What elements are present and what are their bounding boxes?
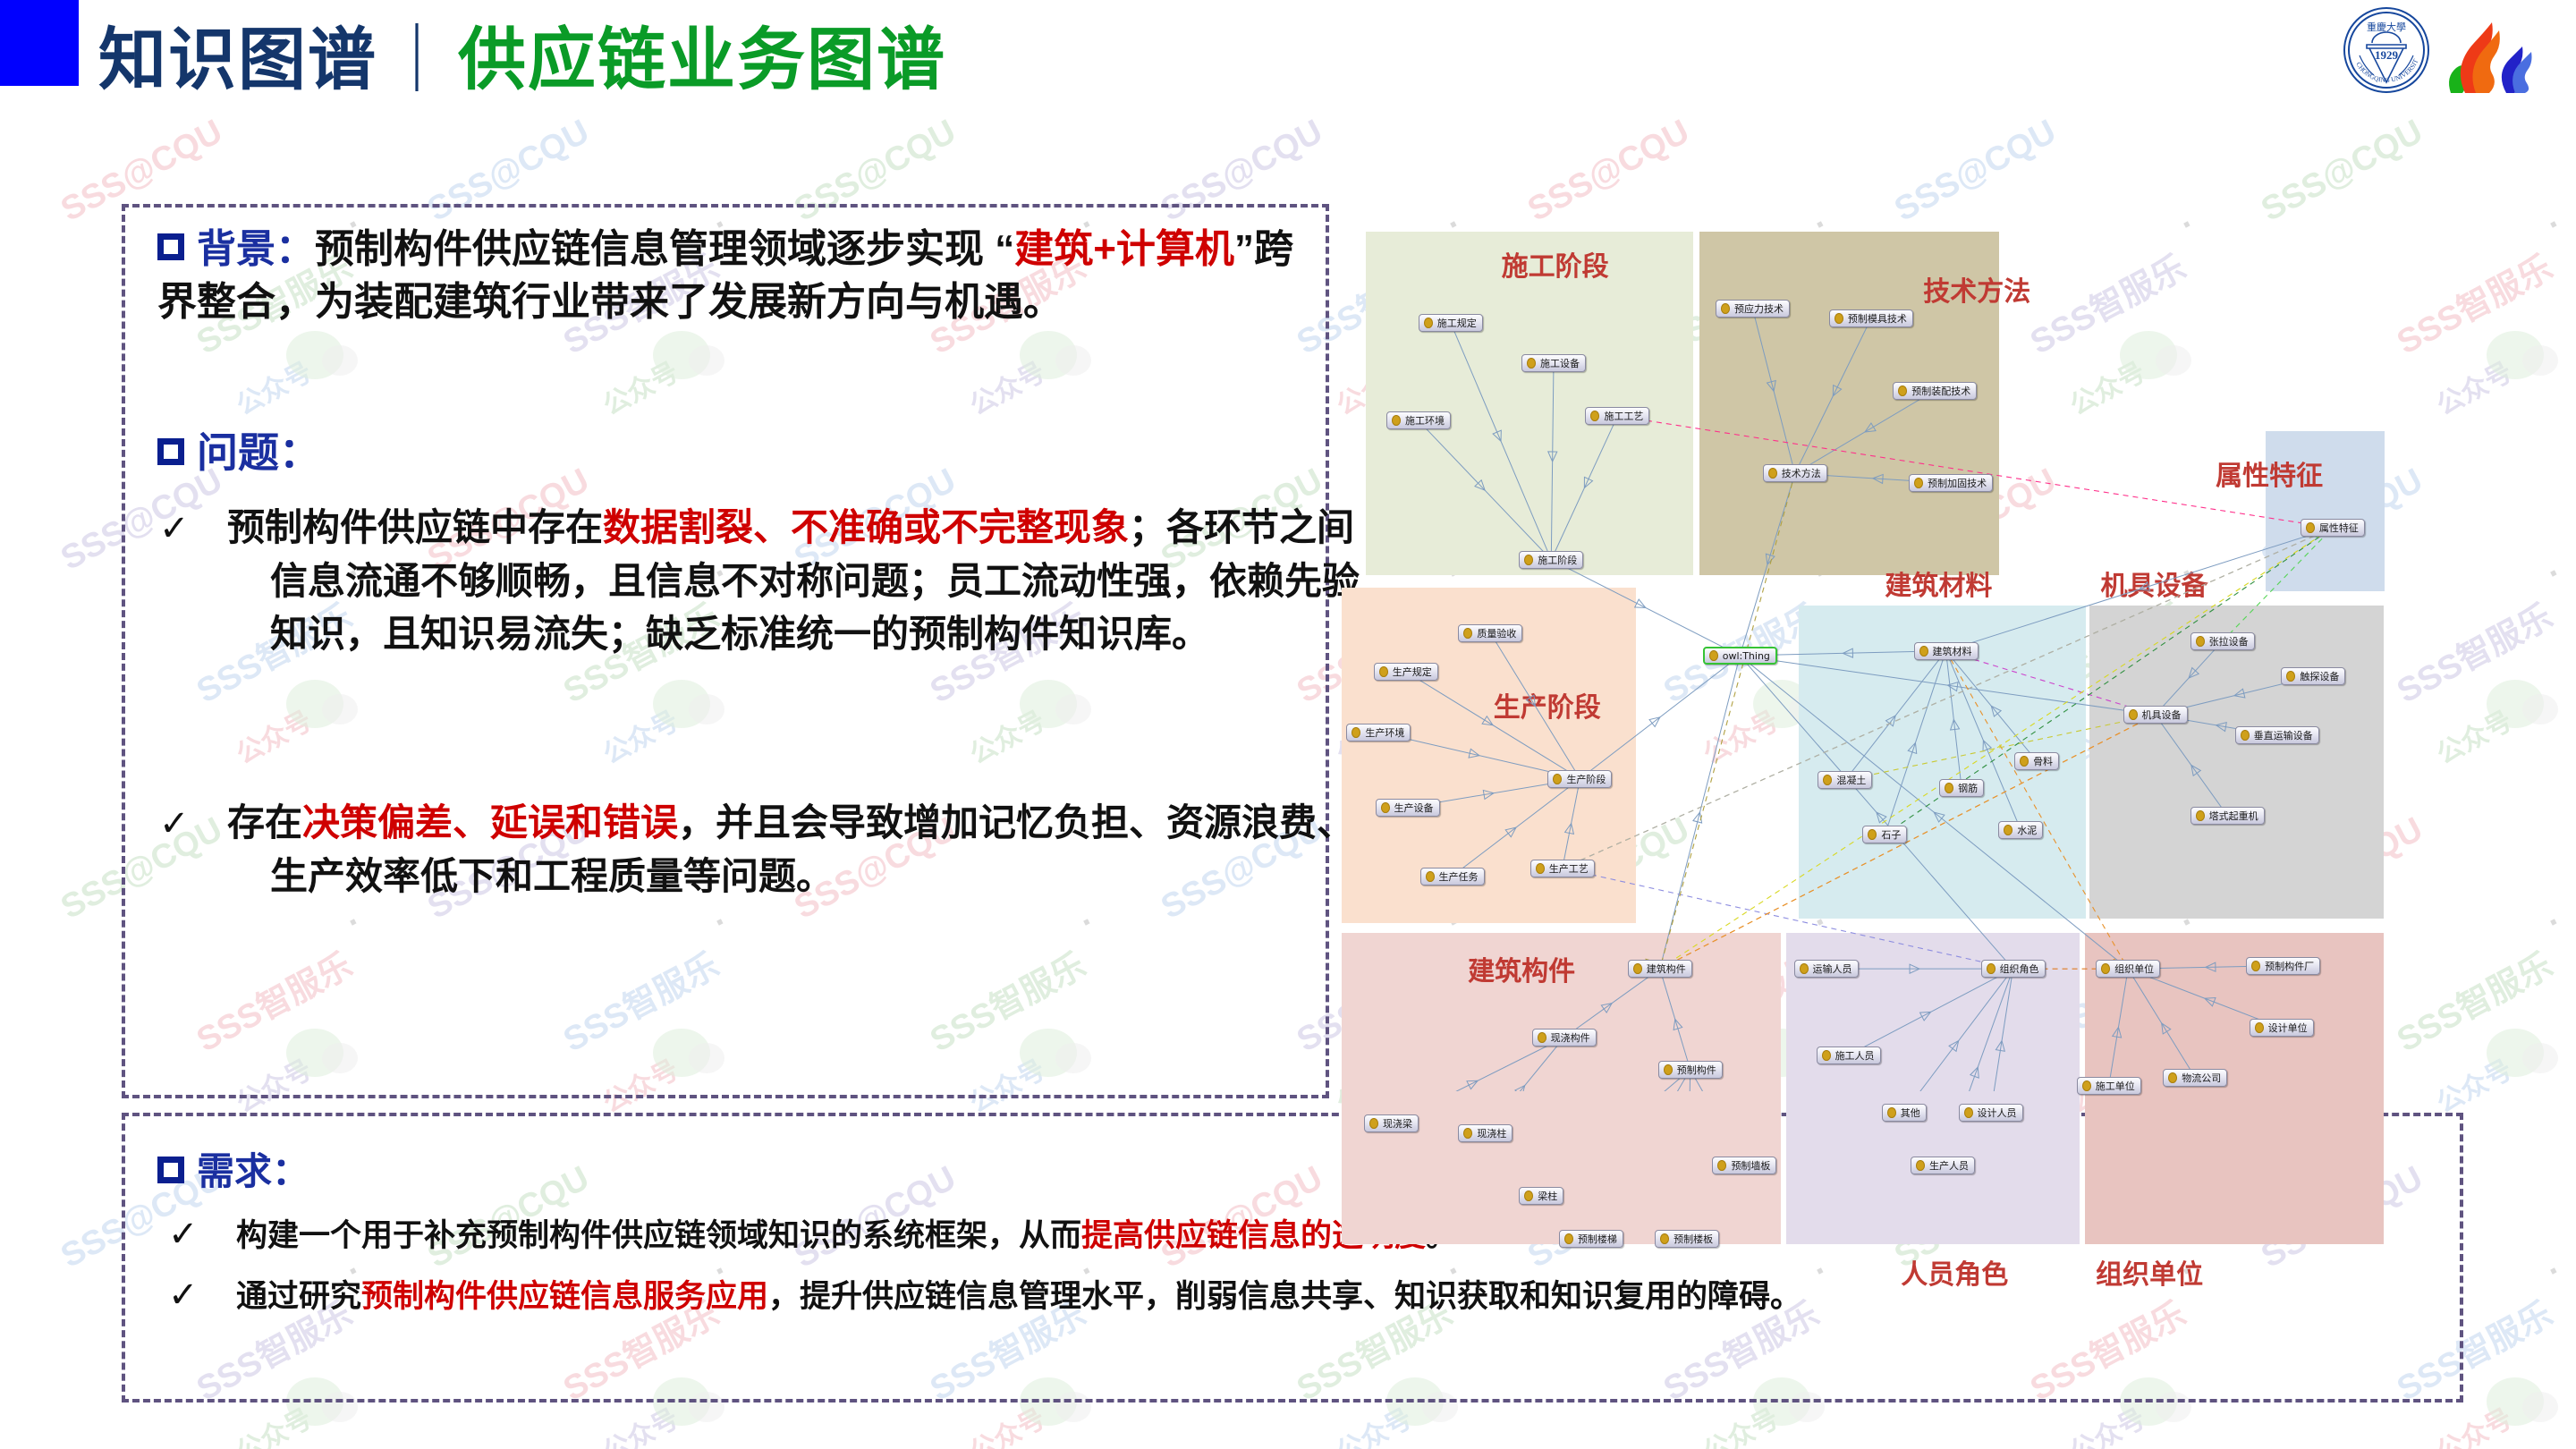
quote-close: ” bbox=[1234, 227, 1254, 271]
node-dot-icon bbox=[1369, 1118, 1378, 1129]
node-dot-icon bbox=[1553, 774, 1562, 784]
node-dot-icon bbox=[1987, 963, 1996, 974]
graph-node-label: owl:Thing bbox=[1723, 650, 1770, 662]
graph-node[interactable]: 现浇梁 bbox=[1364, 1114, 1419, 1132]
node-dot-icon bbox=[1916, 1160, 1925, 1171]
square-bullet-icon bbox=[157, 233, 184, 260]
graph-node-label: 施工工艺 bbox=[1604, 409, 1643, 423]
graph-node[interactable]: 预制装配技术 bbox=[1893, 382, 1977, 400]
watermark-text: 公众号 bbox=[595, 1396, 684, 1449]
graph-node[interactable]: 建筑材料 bbox=[1914, 642, 1979, 660]
graph-node-label: 混凝土 bbox=[1836, 773, 1866, 787]
node-dot-icon bbox=[1379, 666, 1388, 677]
node-dot-icon bbox=[1721, 303, 1730, 314]
graph-node-label: 施工环境 bbox=[1405, 413, 1445, 428]
square-bullet-icon bbox=[157, 438, 184, 465]
problem-heading: 问题： bbox=[157, 420, 320, 479]
graph-node-label: 预制墙板 bbox=[1731, 1158, 1770, 1173]
graph-node[interactable]: 预制楼板 bbox=[1655, 1230, 1719, 1248]
problem-1-text-a: 预制构件供应链中存在 bbox=[227, 506, 603, 548]
graph-node-label: 其他 bbox=[1901, 1106, 1920, 1120]
graph-node[interactable]: 预制墙板 bbox=[1712, 1157, 1776, 1174]
graph-node-label: 建筑构件 bbox=[1647, 962, 1686, 976]
problem-item-2: ✓存在决策偏差、延误和错误，并且会导致增加记忆负担、资源浪费、生产效率低下和工程… bbox=[215, 796, 1370, 902]
graph-node[interactable]: 物流公司 bbox=[2163, 1069, 2227, 1087]
node-dot-icon bbox=[1524, 1191, 1533, 1201]
graph-node-label: 施工规定 bbox=[1437, 316, 1477, 330]
node-dot-icon bbox=[2020, 756, 2029, 767]
problem-1-highlight: 数据割裂、不准确或不完整现象 bbox=[603, 506, 1129, 548]
graph-node[interactable]: 现浇柱 bbox=[1458, 1124, 1513, 1142]
need-2-text-a: 通过研究 bbox=[236, 1279, 361, 1314]
graph-node[interactable]: 预制楼梯 bbox=[1559, 1230, 1623, 1248]
node-dot-icon bbox=[1524, 555, 1533, 565]
node-dot-icon bbox=[2251, 961, 2260, 971]
node-dot-icon bbox=[2196, 810, 2205, 821]
svg-text:重慶大學: 重慶大學 bbox=[2367, 21, 2406, 33]
graph-panel-title: 组织单位 bbox=[2096, 1252, 2203, 1292]
graph-node-label: 施工单位 bbox=[2096, 1079, 2135, 1093]
node-dot-icon bbox=[1538, 1032, 1546, 1043]
node-dot-icon bbox=[1527, 358, 1536, 369]
graph-node-label: 技术方法 bbox=[1782, 466, 1821, 480]
graph-node[interactable]: 施工规定 bbox=[1419, 314, 1483, 332]
flame-logo-icon bbox=[2449, 22, 2532, 93]
graph-node[interactable]: 骨料 bbox=[2014, 752, 2059, 770]
graph-node[interactable]: 预制加固技术 bbox=[1909, 474, 1993, 492]
graph-node-label: 梁柱 bbox=[1538, 1189, 1557, 1203]
graph-node-label: 组织角色 bbox=[2000, 962, 2039, 976]
graph-node-label: 垂直运输设备 bbox=[2254, 728, 2313, 742]
node-dot-icon bbox=[2286, 671, 2295, 682]
graph-node-label: 现浇柱 bbox=[1477, 1126, 1506, 1140]
graph-node[interactable]: 生产设备 bbox=[1376, 799, 1440, 817]
graph-node[interactable]: 其他 bbox=[1882, 1104, 1927, 1122]
graph-node[interactable]: 施工人员 bbox=[1817, 1046, 1881, 1064]
svg-text:1929: 1929 bbox=[2375, 48, 2399, 62]
graph-node-label: 设计单位 bbox=[2268, 1021, 2308, 1035]
node-dot-icon bbox=[1590, 411, 1599, 421]
graph-node[interactable]: 预应力技术 bbox=[1716, 300, 1790, 318]
graph-node[interactable]: 触探设备 bbox=[2281, 667, 2345, 685]
graph-node-label: 骨料 bbox=[2033, 754, 2053, 768]
node-dot-icon bbox=[1381, 802, 1390, 813]
watermark-text: 公众号 bbox=[2428, 1396, 2518, 1449]
node-dot-icon bbox=[2255, 1022, 2264, 1033]
node-dot-icon bbox=[1914, 478, 1923, 488]
node-dot-icon bbox=[2082, 1080, 2091, 1091]
title-part-1: 知识图谱 bbox=[98, 4, 377, 103]
watermark-text: 公众号 bbox=[228, 1396, 318, 1449]
watermark-text: 公众号 bbox=[1695, 1396, 1784, 1449]
page-title: 知识图谱 ｜ 供应链业务图谱 bbox=[98, 7, 946, 100]
graph-node[interactable]: 质量验收 bbox=[1458, 624, 1522, 642]
graph-node[interactable]: 组织角色 bbox=[1981, 960, 2046, 978]
watermark-text: 公众号 bbox=[1328, 1396, 1418, 1449]
graph-node-label: 预制构件 bbox=[1677, 1063, 1716, 1077]
graph-node[interactable]: 设计单位 bbox=[2250, 1019, 2314, 1037]
graph-node-label: 施工阶段 bbox=[1538, 553, 1577, 567]
graph-node[interactable]: 生产任务 bbox=[1420, 868, 1485, 885]
graph-node[interactable]: 现浇构件 bbox=[1532, 1029, 1597, 1046]
need-2-highlight: 预制构件供应链信息服务应用 bbox=[361, 1279, 768, 1314]
watermark-chat-icon bbox=[2487, 1377, 2544, 1426]
graph-node-label: 生产人员 bbox=[1929, 1158, 1969, 1173]
node-dot-icon bbox=[1964, 1107, 1973, 1118]
node-dot-icon bbox=[2129, 709, 2138, 720]
graph-node-root[interactable]: owl:Thing bbox=[1703, 647, 1777, 665]
watermark-text: 公众号 bbox=[962, 1396, 1051, 1449]
node-dot-icon bbox=[1709, 650, 1718, 661]
graph-node-label: 施工人员 bbox=[1835, 1048, 1875, 1063]
graph-node-label: 物流公司 bbox=[2182, 1071, 2221, 1085]
problem-2-text-a: 存在 bbox=[227, 801, 302, 843]
graph-node[interactable]: 梁柱 bbox=[1519, 1187, 1563, 1205]
graph-node-label: 质量验收 bbox=[1477, 626, 1516, 640]
graph-node[interactable]: 石子 bbox=[1862, 826, 1907, 843]
node-dot-icon bbox=[2004, 825, 2012, 835]
graph-node[interactable]: 生产规定 bbox=[1374, 663, 1438, 681]
graph-node[interactable]: 预制构件厂 bbox=[2246, 957, 2320, 975]
quote-open: “ bbox=[995, 227, 1014, 271]
graph-node-label: 现浇构件 bbox=[1551, 1030, 1590, 1045]
problem-2-highlight: 决策偏差、延误和错误 bbox=[302, 801, 678, 843]
graph-node-label: 设计人员 bbox=[1978, 1106, 2017, 1120]
node-dot-icon bbox=[1352, 727, 1360, 738]
graph-panel-title: 人员角色 bbox=[1901, 1252, 2008, 1292]
node-dot-icon bbox=[1463, 1128, 1472, 1139]
graph-node-label: 生产设备 bbox=[1394, 801, 1434, 815]
node-dot-icon bbox=[1463, 628, 1472, 639]
square-bullet-icon bbox=[157, 1157, 184, 1183]
node-dot-icon bbox=[2196, 636, 2205, 647]
graph-node-label: 水泥 bbox=[2017, 823, 2037, 837]
graph-node-label: 预制模具技术 bbox=[1848, 311, 1907, 326]
background-paragraph: 背景：预制构件供应链信息管理领域逐步实现 “建筑+计算机”跨界整合，为装配建筑行… bbox=[157, 224, 1311, 329]
graph-node[interactable]: 生产人员 bbox=[1911, 1157, 1975, 1174]
watermark-text: 公众号 bbox=[2062, 1396, 2151, 1449]
node-dot-icon bbox=[1822, 1050, 1831, 1061]
graph-node-label: 张拉设备 bbox=[2209, 634, 2249, 648]
graph-node-label: 触探设备 bbox=[2300, 669, 2339, 683]
graph-node[interactable]: 施工设备 bbox=[1521, 354, 1586, 372]
need-1-text-a: 构建一个用于补充预制构件供应链领域知识的系统框架，从而 bbox=[236, 1218, 1081, 1253]
graph-node[interactable]: 施工环境 bbox=[1386, 411, 1451, 429]
graph-node-label: 石子 bbox=[1881, 827, 1901, 842]
graph-node-label: 预应力技术 bbox=[1734, 301, 1784, 316]
need-label: 需求： bbox=[197, 1150, 309, 1192]
node-dot-icon bbox=[1945, 783, 1953, 793]
node-dot-icon bbox=[1868, 829, 1877, 840]
node-dot-icon bbox=[1633, 963, 1642, 974]
graph-node[interactable]: 垂直运输设备 bbox=[2235, 726, 2319, 744]
background-label: 背景： bbox=[197, 227, 315, 271]
node-dot-icon bbox=[1887, 1107, 1896, 1118]
graph-node-label: 生产任务 bbox=[1439, 869, 1479, 884]
node-dot-icon bbox=[1536, 863, 1545, 874]
accent-bar bbox=[0, 0, 79, 86]
need-heading: 需求： bbox=[157, 1141, 309, 1196]
graph-node-label: 生产工艺 bbox=[1549, 861, 1589, 876]
knowledge-graph: 施工阶段技术方法属性特征生产阶段建筑材料机具设备建筑构件人员角色组织单位 施工规… bbox=[1342, 206, 2576, 1091]
graph-node[interactable]: 施工单位 bbox=[2077, 1077, 2141, 1095]
title-separator: ｜ bbox=[377, 4, 458, 103]
graph-node[interactable]: 塔式起重机 bbox=[2190, 807, 2265, 825]
graph-node-label: 预制加固技术 bbox=[1928, 476, 1987, 490]
graph-node[interactable]: 建筑构件 bbox=[1628, 960, 1692, 978]
graph-node[interactable]: 机具设备 bbox=[2123, 706, 2188, 724]
logo-group: 1929 重慶大學 CHONGQING UNIVERSITY bbox=[2340, 4, 2563, 97]
slide-root: SSS@CQUSSS智服乐·公众号SSS@CQUSSS智服乐·公众号SSS@CQ… bbox=[0, 0, 2576, 1449]
graph-node-label: 建筑材料 bbox=[1933, 644, 1972, 658]
graph-node-label: 预制装配技术 bbox=[1911, 384, 1970, 398]
node-dot-icon bbox=[2306, 522, 2315, 533]
node-dot-icon bbox=[1664, 1064, 1673, 1075]
node-dot-icon bbox=[2168, 1072, 2177, 1083]
graph-node[interactable]: 水泥 bbox=[1998, 821, 2043, 839]
node-dot-icon bbox=[1898, 386, 1907, 396]
graph-node[interactable]: 属性特征 bbox=[2301, 519, 2365, 537]
node-dot-icon bbox=[1835, 313, 1843, 324]
need-2-text-b: ，提升供应链信息管理水平，削弱信息共享、知识获取和知识复用的障碍。 bbox=[768, 1279, 1801, 1314]
graph-node-label: 生产规定 bbox=[1393, 665, 1432, 679]
problem-item-1: ✓预制构件供应链中存在数据割裂、不准确或不完整现象；各环节之间信息流通不够顺畅，… bbox=[215, 501, 1370, 661]
background-highlight: 建筑+计算机 bbox=[1014, 227, 1234, 271]
graph-node-label: 预制楼梯 bbox=[1578, 1232, 1617, 1246]
node-dot-icon bbox=[1768, 468, 1777, 479]
graph-node[interactable]: 技术方法 bbox=[1763, 464, 1827, 482]
graph-node[interactable]: 施工阶段 bbox=[1519, 551, 1583, 569]
node-dot-icon bbox=[1800, 963, 1809, 974]
node-dot-icon bbox=[1392, 415, 1401, 426]
graph-node-label: 生产环境 bbox=[1365, 725, 1404, 740]
graph-node[interactable]: 施工工艺 bbox=[1585, 407, 1649, 425]
node-dot-icon bbox=[2101, 963, 2110, 974]
graph-node[interactable]: 张拉设备 bbox=[2190, 632, 2255, 650]
node-dot-icon bbox=[1426, 871, 1435, 882]
node-dot-icon bbox=[1424, 318, 1433, 328]
node-dot-icon bbox=[1564, 1233, 1573, 1244]
graph-node[interactable]: 生产环境 bbox=[1346, 724, 1411, 741]
graph-node[interactable]: 设计人员 bbox=[1959, 1104, 2023, 1122]
graph-node[interactable]: 运输人员 bbox=[1794, 960, 1859, 978]
graph-node[interactable]: 预制构件 bbox=[1658, 1061, 1723, 1079]
problem-label: 问题： bbox=[197, 429, 320, 476]
graph-node-label: 组织单位 bbox=[2114, 962, 2154, 976]
graph-node[interactable]: 生产阶段 bbox=[1547, 770, 1612, 788]
graph-node-label: 运输人员 bbox=[1813, 962, 1852, 976]
background-text-a: 预制构件供应链信息管理领域逐步实现 bbox=[315, 227, 984, 271]
graph-node-label: 现浇梁 bbox=[1383, 1116, 1412, 1131]
university-seal-icon: 1929 重慶大學 CHONGQING UNIVERSITY bbox=[2340, 4, 2563, 97]
node-dot-icon bbox=[1823, 775, 1832, 785]
node-dot-icon bbox=[1660, 1233, 1669, 1244]
graph-node[interactable]: 钢筋 bbox=[1939, 779, 1984, 797]
graph-node[interactable]: 生产工艺 bbox=[1530, 860, 1595, 877]
graph-node-label: 钢筋 bbox=[1958, 781, 1978, 795]
graph-node[interactable]: 混凝土 bbox=[1818, 771, 1872, 789]
graph-node-label: 属性特征 bbox=[2319, 521, 2359, 535]
node-dot-icon bbox=[1717, 1160, 1726, 1171]
graph-node-label: 预制楼板 bbox=[1674, 1232, 1713, 1246]
graph-node-label: 机具设备 bbox=[2142, 708, 2182, 722]
watermark-chat-icon bbox=[2522, 1392, 2558, 1422]
node-dot-icon bbox=[2241, 730, 2250, 741]
title-part-2: 供应链业务图谱 bbox=[458, 4, 946, 103]
graph-node-label: 塔式起重机 bbox=[2209, 809, 2258, 823]
graph-node-label: 施工设备 bbox=[1540, 356, 1580, 370]
watermark-dot: · bbox=[2541, 1252, 2569, 1292]
graph-node-label: 预制构件厂 bbox=[2265, 959, 2314, 973]
graph-node[interactable]: 预制模具技术 bbox=[1829, 309, 1913, 327]
node-dot-icon bbox=[1919, 646, 1928, 657]
svg-text:CHONGQING UNIVERSITY: CHONGQING UNIVERSITY bbox=[2340, 4, 2420, 84]
graph-node-label: 生产阶段 bbox=[1566, 772, 1606, 786]
graph-node[interactable]: 组织单位 bbox=[2096, 960, 2160, 978]
